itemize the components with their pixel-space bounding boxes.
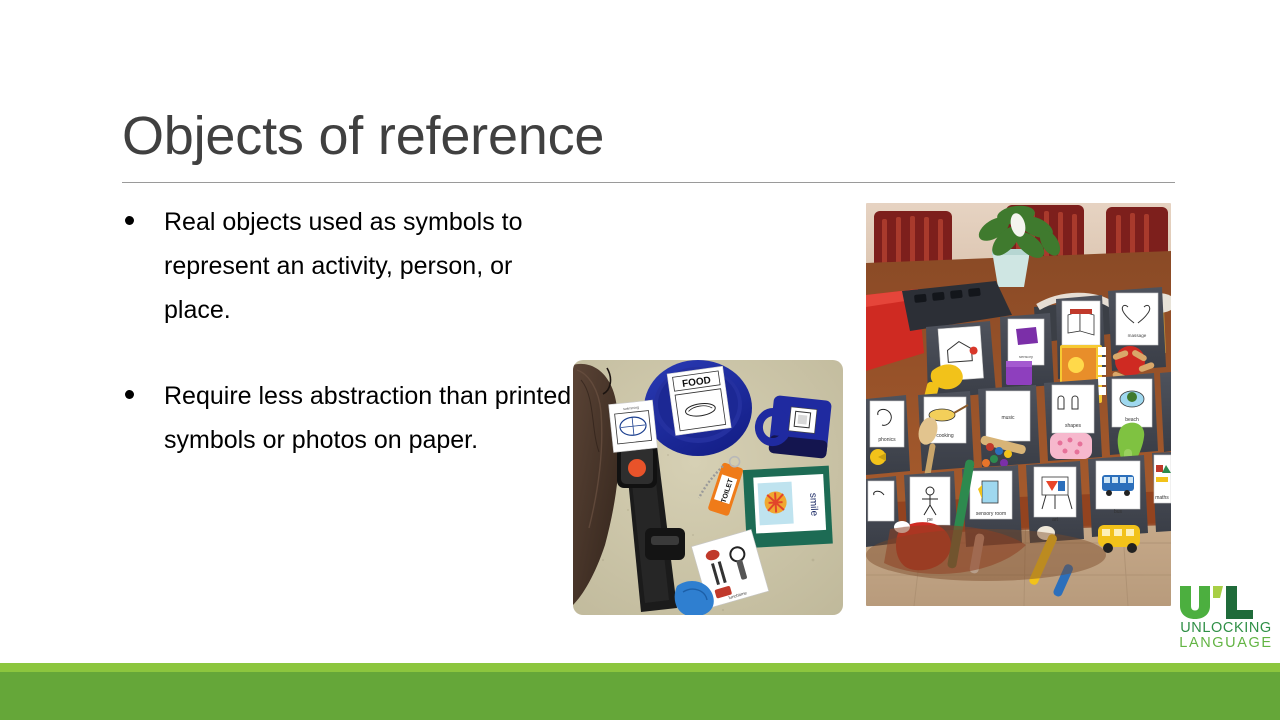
logo-word-unlocking: UNLOCKING	[1177, 620, 1275, 636]
page-title: Objects of reference	[122, 104, 1182, 168]
svg-text:smile: smile	[807, 493, 819, 517]
svg-text:music: music	[1001, 415, 1015, 421]
photo-table-of-symbol-cards: sensory	[866, 203, 1171, 606]
photo-objects-on-sand: FOOD	[573, 360, 843, 615]
svg-text:beach: beach	[1125, 417, 1139, 423]
bullet-text: Require less abstraction than printed sy…	[164, 374, 572, 462]
slide: Objects of reference Real objects used a…	[0, 0, 1280, 720]
ul-monogram-icon	[1177, 584, 1275, 622]
logo-monogram-icon	[1177, 584, 1275, 622]
svg-text:phonics: phonics	[878, 437, 896, 443]
svg-text:pe: pe	[927, 517, 933, 523]
photo-right-illustration: sensory	[866, 203, 1171, 606]
footer-band-light	[0, 663, 1280, 672]
svg-text:maths: maths	[1155, 495, 1169, 501]
bullet-dot-icon	[125, 216, 134, 225]
list-item: Require less abstraction than printed sy…	[122, 374, 572, 462]
logo-word-language: LANGUAGE	[1177, 635, 1275, 651]
svg-text:sensory: sensory	[1019, 354, 1033, 359]
photo-left-illustration: FOOD	[573, 360, 843, 615]
svg-text:cooking: cooking	[936, 433, 953, 439]
svg-text:bus: bus	[1114, 509, 1123, 515]
svg-text:art: art	[1052, 517, 1058, 523]
svg-text:massage: massage	[1128, 333, 1147, 338]
bullet-text: Real objects used as symbols to represen…	[164, 200, 572, 332]
footer-band-dark	[0, 672, 1280, 720]
title-divider	[122, 182, 1175, 183]
list-item: Real objects used as symbols to represen…	[122, 200, 572, 332]
brand-logo: UNLOCKING LANGUAGE	[1177, 584, 1275, 652]
bullet-list: Real objects used as symbols to represen…	[122, 200, 572, 462]
svg-text:sensory room: sensory room	[976, 511, 1006, 517]
svg-text:shapes: shapes	[1065, 423, 1082, 429]
bullet-dot-icon	[125, 390, 134, 399]
